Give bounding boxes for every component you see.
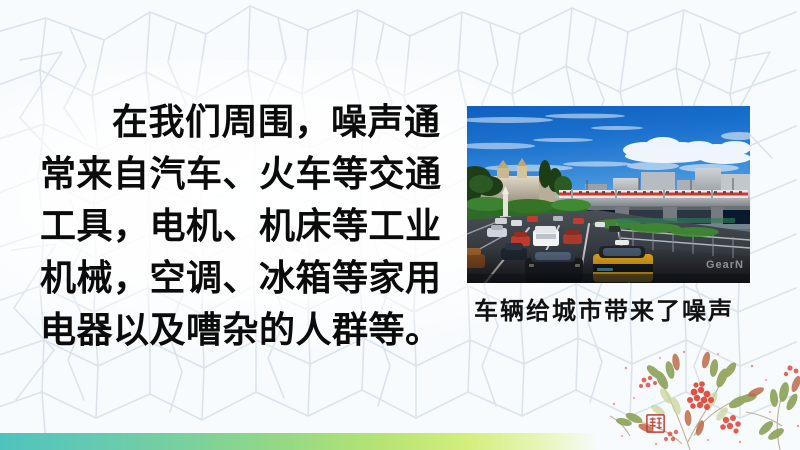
slide-canvas: 在我们周围，噪声通常来自汽车、火车等交通工具，电机、机床等工业机械，空调、冰箱等… (0, 0, 800, 450)
photo-caption: 车辆给城市带来了噪声 (474, 297, 764, 327)
photo-watermark: GearN (706, 259, 744, 271)
bottom-gradient-bar (0, 433, 597, 450)
body-paragraph: 在我们周围，噪声通常来自汽车、火车等交通工具，电机、机床等工业机械，空调、冰箱等… (40, 96, 460, 356)
seal-stamp-icon (646, 414, 665, 433)
city-traffic-photo: GearN (467, 106, 750, 283)
